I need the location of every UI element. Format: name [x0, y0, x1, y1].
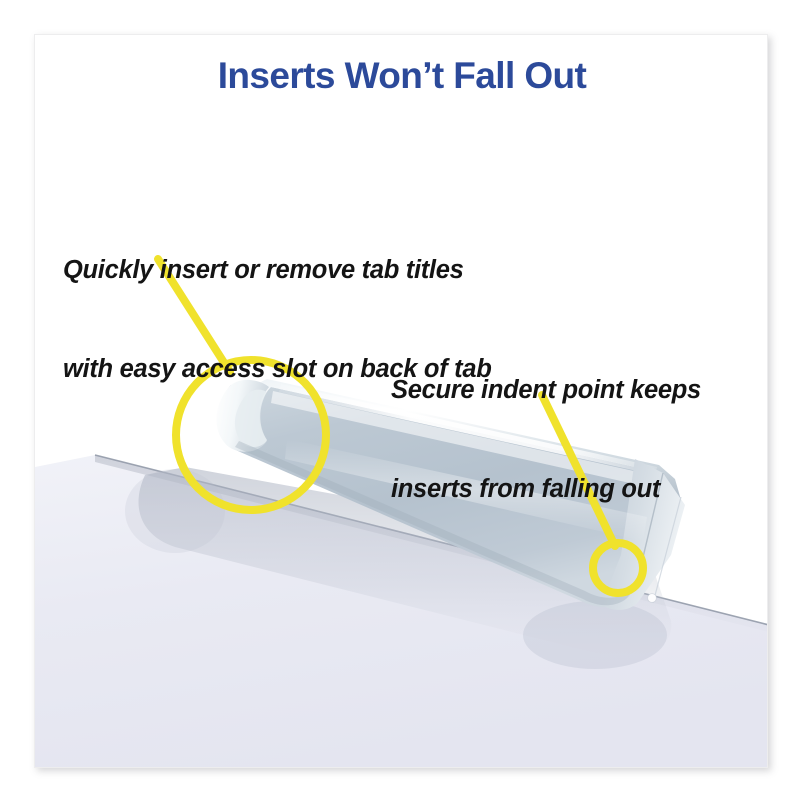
product-feature-image: Inserts Won’t Fall Out Quickly insert or… [0, 0, 800, 800]
callout-secure-indent-point: Secure indent point keeps inserts from f… [391, 308, 701, 572]
callout-left-line-1: Quickly insert or remove tab titles [63, 254, 492, 287]
callout-right-line-2: inserts from falling out [391, 473, 701, 506]
image-frame: Inserts Won’t Fall Out Quickly insert or… [34, 34, 768, 768]
page-title: Inserts Won’t Fall Out [35, 55, 768, 97]
callout-right-line-1: Secure indent point keeps [391, 374, 701, 407]
